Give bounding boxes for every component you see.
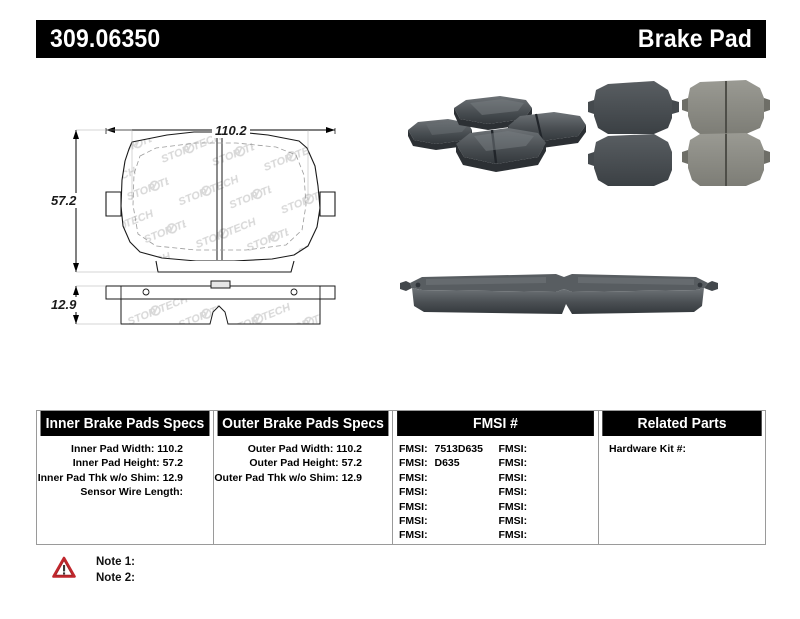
specs-table: Inner Brake Pads Specs Inner Pad Width: … — [36, 410, 766, 545]
fmsi-value — [527, 501, 531, 513]
pad-topview-3 — [588, 134, 672, 186]
fmsi-label: FMSI: — [499, 486, 528, 498]
spec-value: 57.2 — [342, 457, 362, 469]
header-bar: 309.06350 Brake Pad — [36, 20, 766, 58]
fmsi-value — [527, 457, 531, 469]
pad-topview-1 — [588, 81, 679, 134]
spec-row: Inner Pad Thk w/o Shim: 12.9 — [37, 471, 213, 485]
column-body-inner-specs: Inner Pad Width: 110.2 Inner Pad Height:… — [37, 436, 213, 544]
note-item: Note 2: — [96, 570, 135, 586]
fmsi-value — [428, 472, 432, 484]
fmsi-label: FMSI: — [399, 443, 428, 455]
fmsi-row: FMSI: — [399, 528, 499, 542]
product-photos — [396, 78, 772, 348]
spec-value: 12.9 — [342, 472, 362, 484]
fmsi-value — [428, 486, 432, 498]
spec-label: Inner Pad Height: — [73, 457, 160, 469]
fmsi-row: FMSI: — [499, 442, 599, 456]
fmsi-label: FMSI: — [399, 472, 428, 484]
warning-triangle-icon — [52, 556, 76, 578]
note-list: Note 1: Note 2: — [96, 554, 135, 586]
thickness-dimension-label: 12.9 — [48, 297, 79, 312]
fmsi-label: FMSI: — [499, 515, 528, 527]
spec-row: Sensor Wire Length: — [37, 485, 213, 499]
fmsi-value — [428, 515, 432, 527]
spec-value: 12.9 — [163, 472, 183, 484]
width-dimension-label: 110.2 — [212, 123, 250, 138]
fmsi-label: FMSI: — [499, 472, 528, 484]
fmsi-row: FMSI: — [399, 485, 499, 499]
note-item: Note 1: — [96, 554, 135, 570]
column-outer-specs: Outer Brake Pads Specs Outer Pad Width: … — [214, 411, 393, 544]
column-header-outer-specs: Outer Brake Pads Specs — [218, 411, 389, 436]
fmsi-row: FMSI: 7513D635 — [399, 442, 499, 456]
fmsi-row: FMSI: — [499, 514, 599, 528]
column-body-related-parts: Hardware Kit #: — [599, 436, 765, 544]
column-header-related-parts: Related Parts — [602, 411, 761, 436]
fmsi-label: FMSI: — [499, 529, 528, 541]
product-type: Brake Pad — [638, 25, 752, 54]
column-fmsi: FMSI # FMSI: 7513D635 FMSI: D635 FMSI: — [393, 411, 599, 544]
fmsi-row: FMSI: — [499, 528, 599, 542]
fmsi-value: 7513D635 — [431, 443, 483, 455]
related-part-label: Hardware Kit #: — [609, 443, 686, 455]
column-body-outer-specs: Outer Pad Width: 110.2 Outer Pad Height:… — [214, 436, 392, 544]
fmsi-value: D635 — [431, 457, 460, 469]
spec-label: Inner Pad Thk w/o Shim: — [38, 472, 160, 484]
spec-label: Sensor Wire Length: — [80, 486, 183, 498]
spec-value: 110.2 — [336, 443, 362, 455]
fmsi-row: FMSI: D635 — [399, 456, 499, 470]
fmsi-subcolumn-right: FMSI: FMSI: FMSI: FMSI: — [499, 442, 599, 543]
spec-row: Inner Pad Height: 57.2 — [37, 456, 213, 470]
technical-drawing: STOP TECH STOP TECH — [36, 100, 396, 350]
pad-face-outline — [106, 128, 335, 272]
fmsi-subcolumn-left: FMSI: 7513D635 FMSI: D635 FMSI: FMSI: — [399, 442, 499, 543]
fmsi-row: FMSI: — [499, 500, 599, 514]
spec-row: Inner Pad Width: 110.2 — [37, 442, 213, 456]
fmsi-label: FMSI: — [399, 515, 428, 527]
pad-topview-4 — [682, 133, 770, 186]
fmsi-value — [428, 529, 432, 541]
fmsi-value — [527, 515, 531, 527]
spec-label: Outer Pad Height: — [249, 457, 338, 469]
fmsi-value — [428, 501, 432, 513]
fmsi-row: FMSI: — [399, 500, 499, 514]
fmsi-value — [527, 443, 531, 455]
product-photo-svg — [396, 78, 772, 348]
spec-value: 57.2 — [163, 457, 183, 469]
fmsi-label: FMSI: — [399, 486, 428, 498]
pad-edge-outline — [106, 281, 335, 324]
column-inner-specs: Inner Brake Pads Specs Inner Pad Width: … — [37, 411, 214, 544]
spec-row: Outer Pad Height: 57.2 — [214, 456, 392, 470]
pad-topview-2 — [682, 80, 770, 134]
fmsi-value — [527, 529, 531, 541]
pad-perspective-4 — [456, 128, 546, 172]
pad-perspective-cluster — [408, 96, 586, 172]
column-header-inner-specs: Inner Brake Pads Specs — [41, 411, 210, 436]
fmsi-label: FMSI: — [499, 457, 528, 469]
related-part-row: Hardware Kit #: — [599, 442, 765, 456]
fmsi-label: FMSI: — [399, 501, 428, 513]
pad-edge-photo — [400, 274, 718, 314]
column-header-fmsi: FMSI # — [397, 411, 594, 436]
spec-row: Outer Pad Thk w/o Shim: 12.9 — [214, 471, 392, 485]
fmsi-value — [527, 486, 531, 498]
fmsi-label: FMSI: — [399, 529, 428, 541]
fmsi-label: FMSI: — [499, 501, 528, 513]
notes-area: Note 1: Note 2: — [52, 554, 352, 594]
column-related-parts: Related Parts Hardware Kit #: — [599, 411, 765, 544]
height-dimension-label: 57.2 — [48, 193, 79, 208]
fmsi-label: FMSI: — [399, 457, 428, 469]
fmsi-row: FMSI: — [399, 471, 499, 485]
part-number: 309.06350 — [50, 25, 160, 54]
spec-label: Inner Pad Width: — [71, 443, 154, 455]
fmsi-value — [527, 472, 531, 484]
fmsi-row: FMSI: — [499, 471, 599, 485]
fmsi-row: FMSI: — [399, 514, 499, 528]
column-body-fmsi: FMSI: 7513D635 FMSI: D635 FMSI: FMSI: — [393, 436, 598, 544]
fmsi-label: FMSI: — [499, 443, 528, 455]
pad-topview-cluster — [588, 80, 770, 186]
spec-row: Outer Pad Width: 110.2 — [214, 442, 392, 456]
fmsi-row: FMSI: — [499, 485, 599, 499]
fmsi-row: FMSI: — [499, 456, 599, 470]
spec-value: 110.2 — [157, 443, 183, 455]
spec-label: Outer Pad Thk w/o Shim: — [214, 472, 338, 484]
spec-label: Outer Pad Width: — [248, 443, 334, 455]
